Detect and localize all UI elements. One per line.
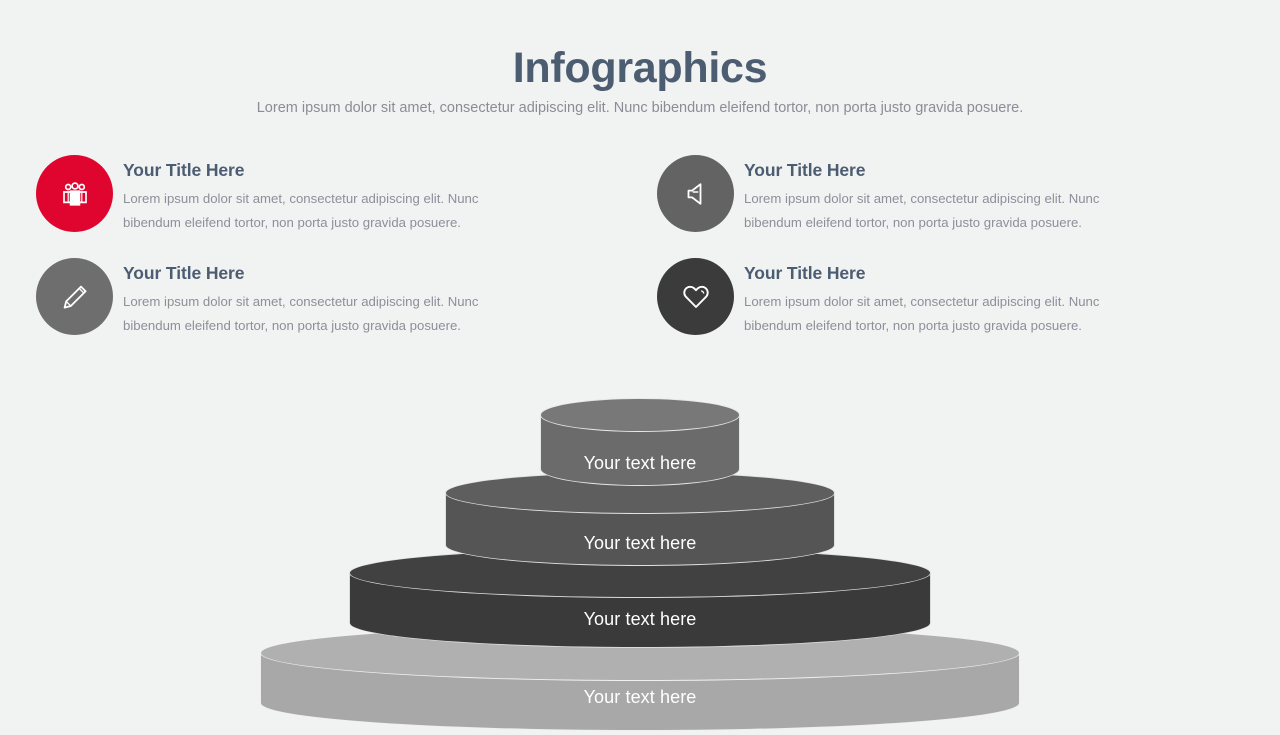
page-title: Infographics — [0, 44, 1280, 92]
feature-text-block: Your Title Here Lorem ipsum dolor sit am… — [123, 258, 546, 339]
tier-2-label: Your text here — [445, 534, 835, 552]
pencil-icon — [59, 281, 91, 313]
pyramid-tier-1[interactable]: Your text here — [540, 394, 740, 494]
feature-grid: Your Title Here Lorem ipsum dolor sit am… — [0, 155, 1280, 355]
page-header: Infographics Lorem ipsum dolor sit amet,… — [0, 44, 1280, 118]
feature-item-speaker[interactable]: Your Title Here Lorem ipsum dolor sit am… — [657, 155, 1167, 236]
feature-item-heart[interactable]: Your Title Here Lorem ipsum dolor sit am… — [657, 258, 1167, 339]
feature-title: Your Title Here — [744, 160, 1167, 181]
feature-icon-circle-speaker[interactable] — [657, 155, 734, 232]
feature-title: Your Title Here — [744, 263, 1167, 284]
tier-4-label: Your text here — [260, 688, 1020, 706]
feature-description: Lorem ipsum dolor sit amet, consectetur … — [123, 187, 533, 236]
speaker-icon — [680, 178, 712, 210]
feature-text-block: Your Title Here Lorem ipsum dolor sit am… — [744, 155, 1167, 236]
feature-description: Lorem ipsum dolor sit amet, consectetur … — [744, 187, 1154, 236]
cylinder-pyramid-diagram: Your text here Your text here Your text … — [0, 380, 1280, 720]
feature-description: Lorem ipsum dolor sit amet, consectetur … — [744, 290, 1154, 339]
feature-item-users[interactable]: Your Title Here Lorem ipsum dolor sit am… — [36, 155, 546, 236]
feature-item-pencil[interactable]: Your Title Here Lorem ipsum dolor sit am… — [36, 258, 546, 339]
feature-text-block: Your Title Here Lorem ipsum dolor sit am… — [123, 155, 546, 236]
tier-1-label: Your text here — [540, 454, 740, 472]
feature-description: Lorem ipsum dolor sit amet, consectetur … — [123, 290, 533, 339]
feature-icon-circle-users[interactable] — [36, 155, 113, 232]
feature-title: Your Title Here — [123, 160, 546, 181]
heart-icon — [679, 280, 713, 314]
feature-icon-circle-heart[interactable] — [657, 258, 734, 335]
page-subtitle: Lorem ipsum dolor sit amet, consectetur … — [0, 99, 1280, 118]
feature-title: Your Title Here — [123, 263, 546, 284]
feature-icon-circle-pencil[interactable] — [36, 258, 113, 335]
feature-text-block: Your Title Here Lorem ipsum dolor sit am… — [744, 258, 1167, 339]
tier-1-top-cap — [540, 398, 740, 432]
tier-3-label: Your text here — [349, 610, 931, 628]
users-icon — [58, 177, 92, 211]
